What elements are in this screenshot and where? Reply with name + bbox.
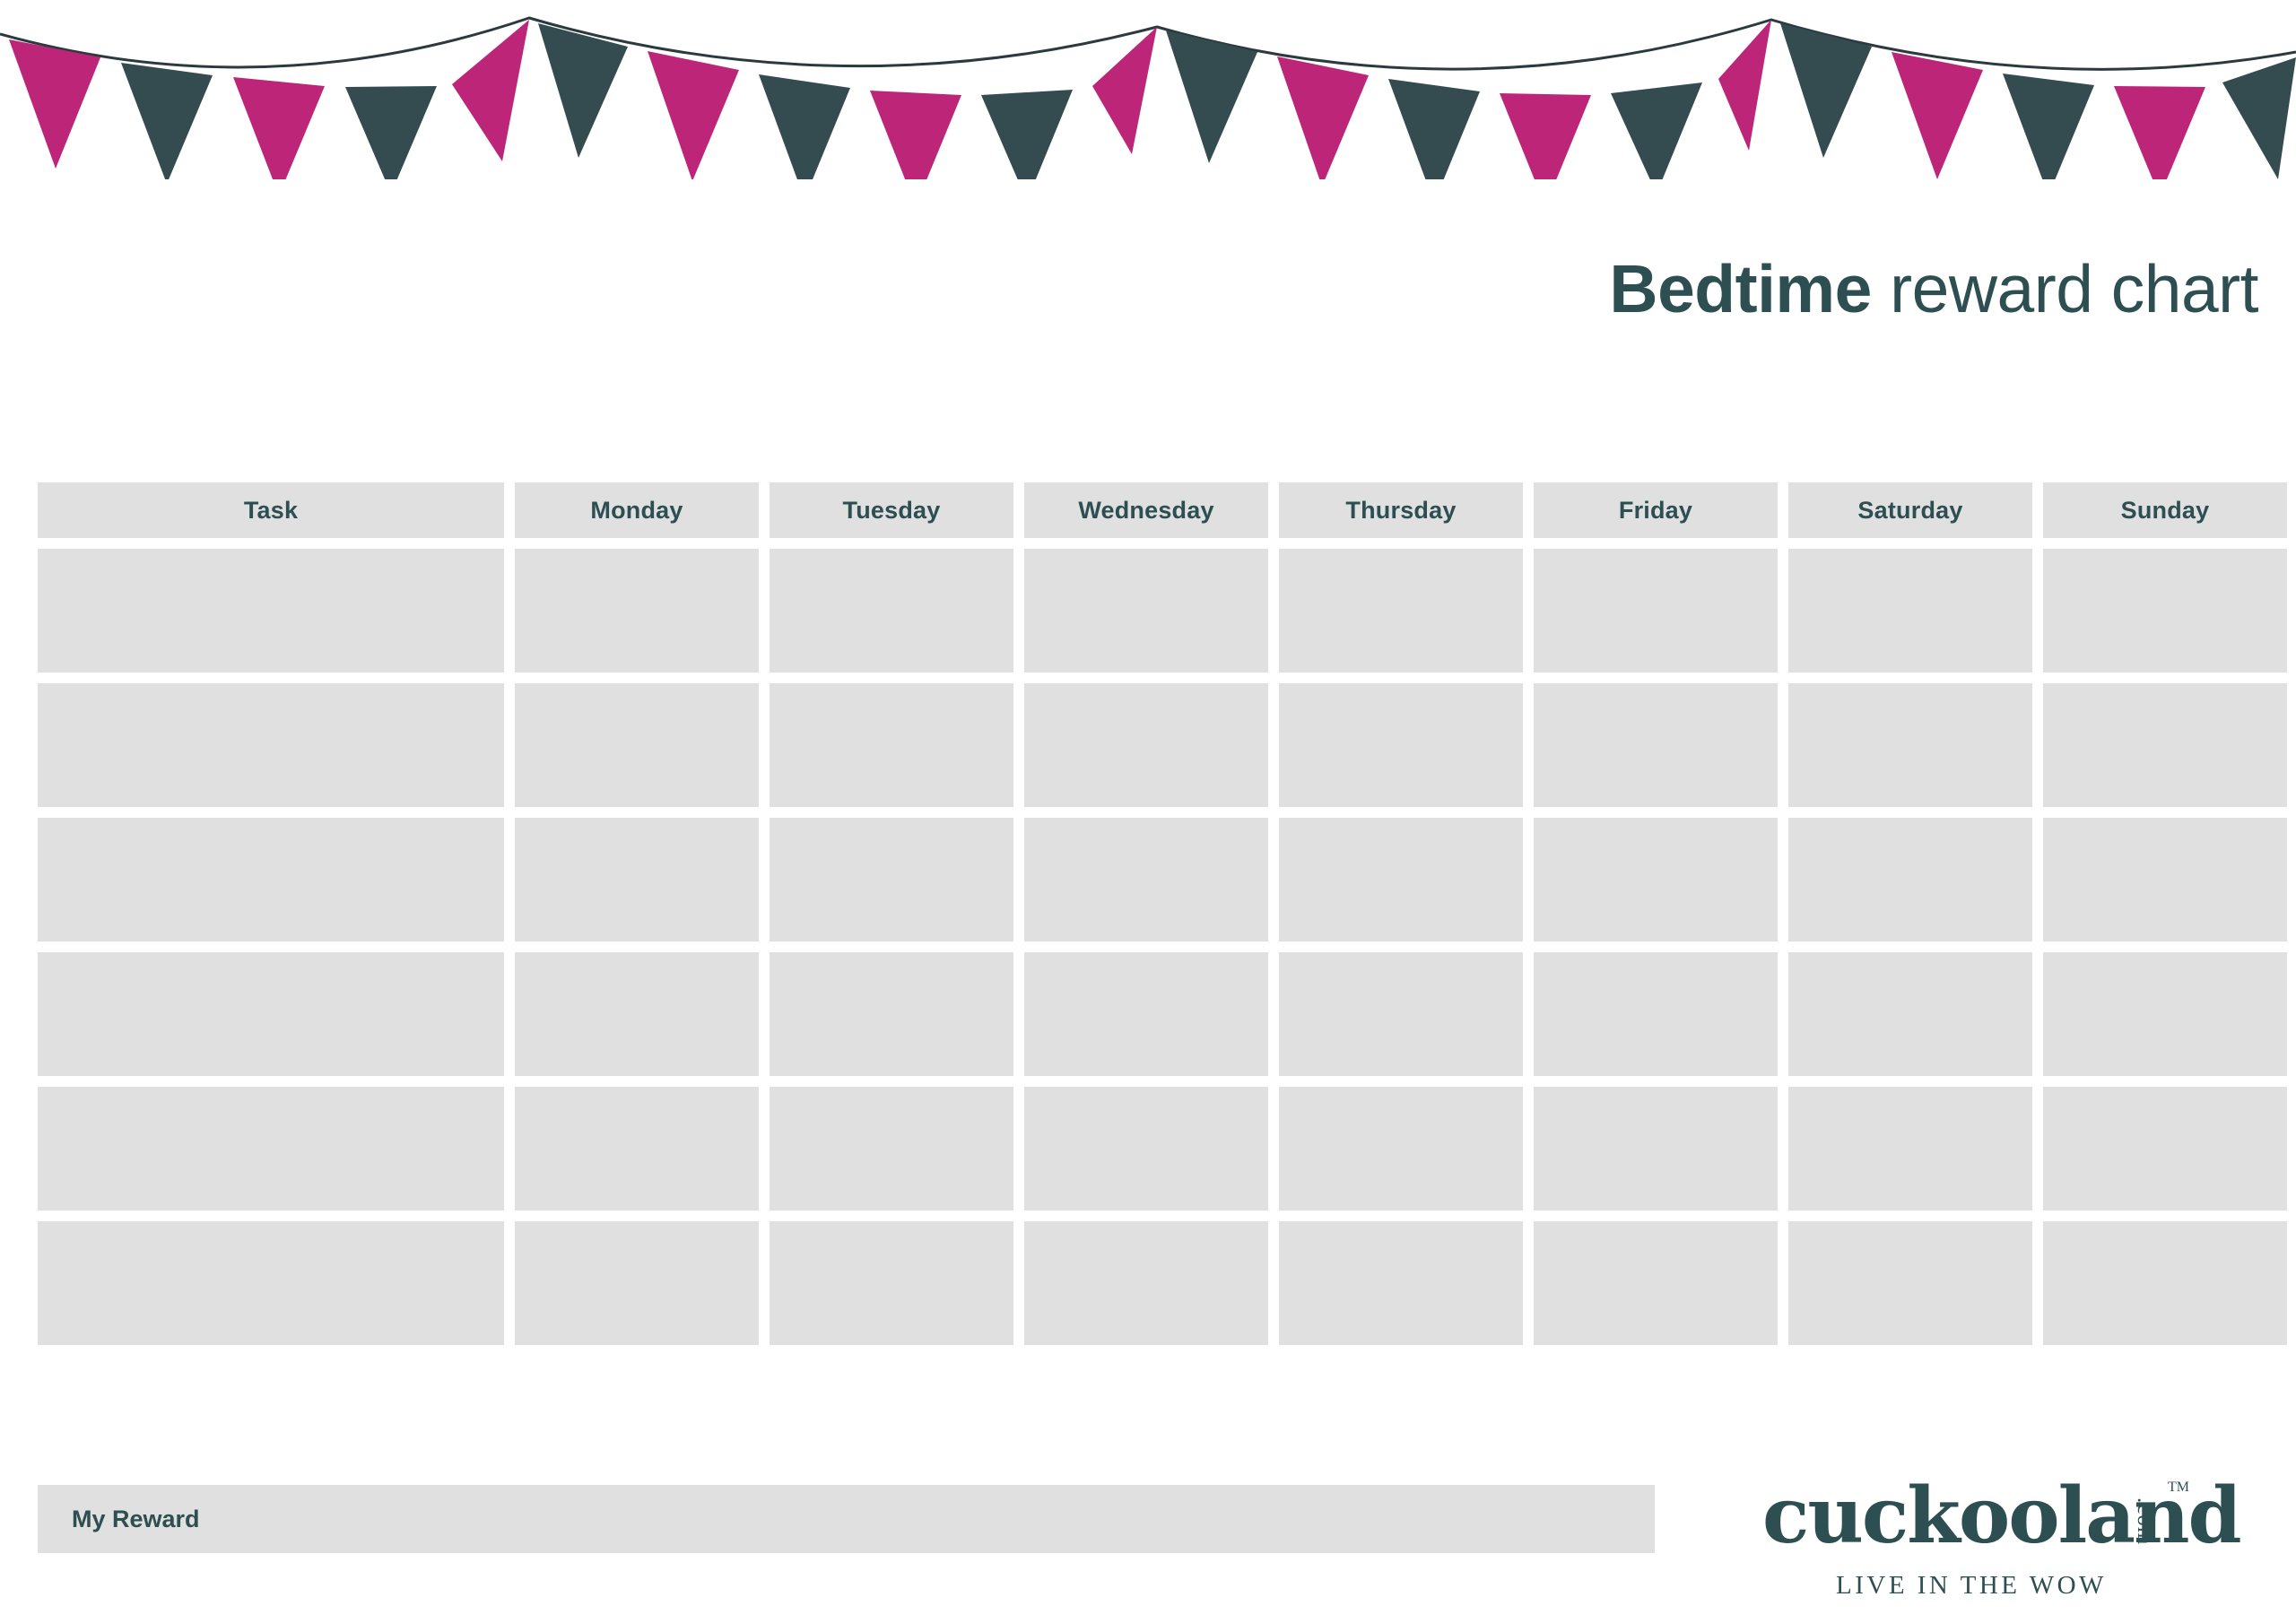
- table-row: [38, 818, 2258, 942]
- header-cell-sunday: Sunday: [2043, 482, 2287, 538]
- header-cell-monday: Monday: [515, 482, 759, 538]
- logo-trademark-icon: TM: [2168, 1480, 2189, 1496]
- cell-sunday[interactable]: [2043, 549, 2287, 673]
- cell-friday[interactable]: [1534, 1221, 1778, 1345]
- cell-tuesday[interactable]: [770, 1221, 1013, 1345]
- cell-wednesday[interactable]: [1024, 952, 1268, 1076]
- cell-sunday[interactable]: [2043, 1087, 2287, 1211]
- header-cell-friday: Friday: [1534, 482, 1778, 538]
- cell-wednesday[interactable]: [1024, 683, 1268, 807]
- cell-wednesday[interactable]: [1024, 549, 1268, 673]
- cell-wednesday[interactable]: [1024, 818, 1268, 942]
- logo-dotcom: .com: [2132, 1497, 2157, 1545]
- cell-monday[interactable]: [515, 818, 759, 942]
- table-row: [38, 1221, 2258, 1345]
- cell-task[interactable]: [38, 1221, 504, 1345]
- bunting-flag: [9, 39, 100, 169]
- cell-monday[interactable]: [515, 952, 759, 1076]
- header-label-wednesday: Wednesday: [1078, 497, 1213, 525]
- cell-task[interactable]: [38, 818, 504, 942]
- bunting-flag: [452, 20, 529, 161]
- table-row: [38, 952, 2258, 1076]
- cell-task[interactable]: [38, 549, 504, 673]
- header-label-friday: Friday: [1619, 497, 1692, 525]
- bunting-flag: [870, 91, 961, 179]
- bunting-flag: [1277, 56, 1369, 179]
- cell-friday[interactable]: [1534, 952, 1778, 1076]
- cell-sunday[interactable]: [2043, 952, 2287, 1076]
- cell-tuesday[interactable]: [770, 818, 1013, 942]
- table-row: [38, 683, 2258, 807]
- header-cell-wednesday: Wednesday: [1024, 482, 1268, 538]
- cell-tuesday[interactable]: [770, 952, 1013, 1076]
- header-cell-saturday: Saturday: [1788, 482, 2032, 538]
- cell-task[interactable]: [38, 683, 504, 807]
- header-label-thursday: Thursday: [1345, 497, 1456, 525]
- bunting-banner: [0, 0, 2296, 179]
- table-row: [38, 1087, 2258, 1211]
- cell-friday[interactable]: [1534, 549, 1778, 673]
- cell-tuesday[interactable]: [770, 683, 1013, 807]
- cell-sunday[interactable]: [2043, 683, 2287, 807]
- bunting-flag: [2222, 57, 2296, 179]
- cell-wednesday[interactable]: [1024, 1087, 1268, 1211]
- my-reward-label: My Reward: [72, 1506, 200, 1533]
- cell-sunday[interactable]: [2043, 1221, 2287, 1345]
- cell-saturday[interactable]: [1788, 549, 2032, 673]
- logo-tagline: LIVE IN THE WOW: [1836, 1571, 2107, 1601]
- cell-saturday[interactable]: [1788, 952, 2032, 1076]
- header-cell-thursday: Thursday: [1279, 482, 1523, 538]
- bunting-flag: [1780, 23, 1872, 158]
- cell-friday[interactable]: [1534, 818, 1778, 942]
- header-label-tuesday: Tuesday: [843, 497, 941, 525]
- cell-thursday[interactable]: [1279, 1221, 1523, 1345]
- bunting-flag: [2114, 86, 2205, 179]
- page-title-strong: Bedtime: [1609, 251, 1871, 326]
- cell-friday[interactable]: [1534, 1087, 1778, 1211]
- bunting-flag: [981, 90, 1073, 179]
- cell-saturday[interactable]: [1788, 1087, 2032, 1211]
- header-label-sunday: Sunday: [2121, 497, 2210, 525]
- bunting-flag: [1092, 27, 1157, 154]
- cell-saturday[interactable]: [1788, 683, 2032, 807]
- cell-sunday[interactable]: [2043, 818, 2287, 942]
- header-label-monday: Monday: [590, 497, 683, 525]
- bunting-flag: [1500, 93, 1591, 179]
- bunting-flag: [2003, 74, 2094, 179]
- cell-task[interactable]: [38, 1087, 504, 1211]
- bunting-flag: [648, 51, 739, 179]
- cell-saturday[interactable]: [1788, 1221, 2032, 1345]
- header-label-task: Task: [244, 497, 298, 525]
- cell-monday[interactable]: [515, 1221, 759, 1345]
- cell-monday[interactable]: [515, 549, 759, 673]
- header-cell-task: Task: [38, 482, 504, 538]
- bunting-flag: [1166, 30, 1257, 163]
- cell-thursday[interactable]: [1279, 952, 1523, 1076]
- bunting-flag: [1718, 20, 1771, 151]
- cell-monday[interactable]: [515, 1087, 759, 1211]
- header-label-saturday: Saturday: [1857, 497, 1962, 525]
- page-title: Bedtime reward chart: [1609, 253, 2258, 325]
- bunting-flag: [233, 77, 325, 179]
- table-header-row: Task Monday Tuesday Wednesday Thursday F…: [38, 482, 2258, 538]
- cell-saturday[interactable]: [1788, 818, 2032, 942]
- cell-thursday[interactable]: [1279, 1087, 1523, 1211]
- bunting-flag: [759, 74, 850, 179]
- cell-tuesday[interactable]: [770, 549, 1013, 673]
- bunting-flag: [1388, 79, 1480, 179]
- cell-wednesday[interactable]: [1024, 1221, 1268, 1345]
- bunting-flag: [345, 86, 437, 179]
- bunting-flag: [1611, 82, 1702, 179]
- bunting-flags: [9, 20, 2296, 179]
- cell-thursday[interactable]: [1279, 818, 1523, 942]
- table-row: [38, 549, 2258, 673]
- bunting-flag: [121, 63, 213, 179]
- my-reward-field[interactable]: My Reward: [38, 1485, 1655, 1553]
- cell-thursday[interactable]: [1279, 549, 1523, 673]
- reward-chart-table: Task Monday Tuesday Wednesday Thursday F…: [38, 482, 2258, 1356]
- header-cell-tuesday: Tuesday: [770, 482, 1013, 538]
- cuckooland-logo: cuckooland TM .com LIVE IN THE WOW: [1762, 1478, 2238, 1612]
- cell-task[interactable]: [38, 952, 504, 1076]
- cell-friday[interactable]: [1534, 683, 1778, 807]
- cell-monday[interactable]: [515, 683, 759, 807]
- page-title-light: reward chart: [1872, 251, 2258, 326]
- bunting-flag: [1892, 52, 1983, 179]
- cell-thursday[interactable]: [1279, 683, 1523, 807]
- cell-tuesday[interactable]: [770, 1087, 1013, 1211]
- bunting-flag: [538, 23, 628, 158]
